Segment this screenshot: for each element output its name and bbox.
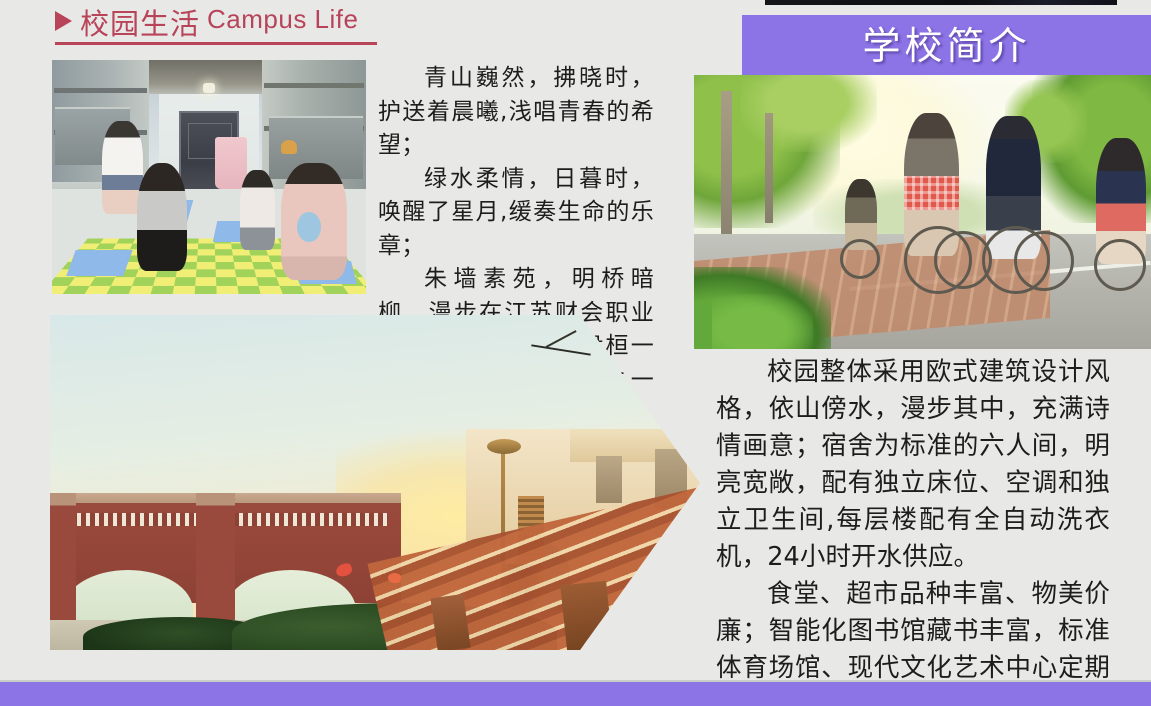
students-cycling-campus-photo <box>694 75 1151 349</box>
play-triangle-icon <box>55 11 72 31</box>
top-cutoff-strip <box>765 0 1117 5</box>
section-underline <box>55 42 377 45</box>
school-intro-title-bar: 学校简介 <box>742 15 1151 77</box>
poem-line-2: 绿水柔情，日暮时，唤醒了星月,缓奏生命的乐章； <box>378 163 654 264</box>
campus-building-sunset-photo <box>50 315 700 650</box>
dormitory-room-photo <box>52 60 366 294</box>
intro-paragraph-1: 校园整体采用欧式建筑设计风格，依山傍水，漫步其中，充满诗情画意；宿舍为标准的六人… <box>716 354 1110 576</box>
section-title-cn: 校园生活 <box>80 1 200 43</box>
slide-canvas: 校园生活 Campus Life 青山巍然，拂晓时，护送着晨曦,浅唱青春的希望；… <box>0 0 1151 706</box>
poem-line-1: 青山巍然，拂晓时，护送着晨曦,浅唱青春的希望； <box>378 62 654 163</box>
section-header: 校园生活 Campus Life <box>52 2 472 48</box>
school-intro-text: 校园整体采用欧式建筑设计风格，依山傍水，漫步其中，充满诗情画意；宿舍为标准的六人… <box>716 354 1110 706</box>
section-title-en: Campus Life <box>207 4 358 35</box>
school-intro-title: 学校简介 <box>742 15 1151 77</box>
bottom-purple-bar <box>0 682 1151 706</box>
